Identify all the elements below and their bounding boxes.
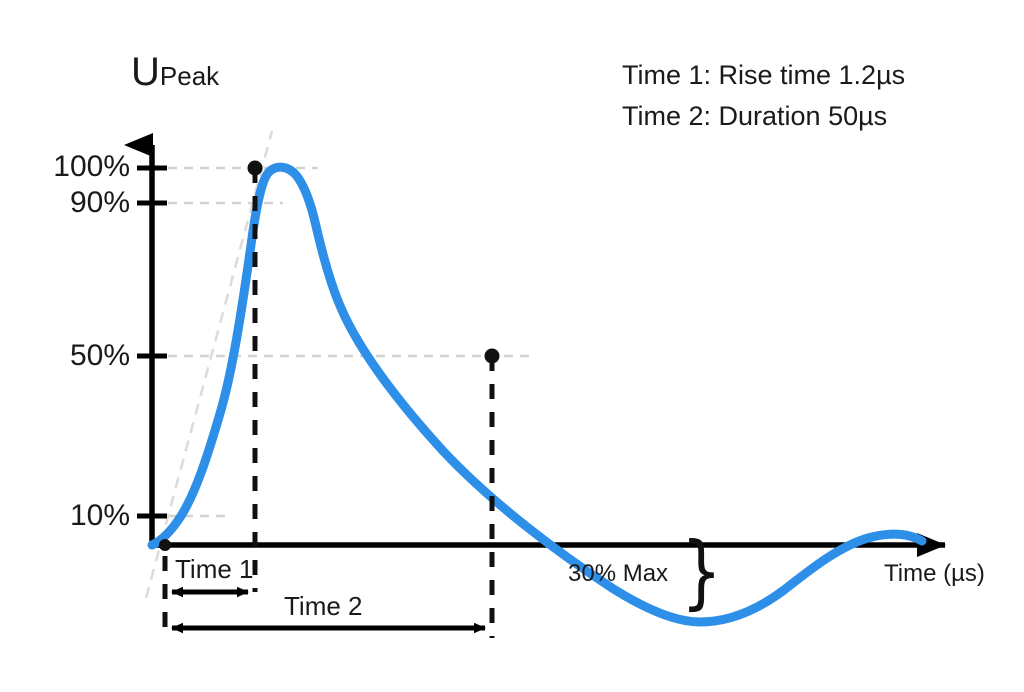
waveform-curve	[152, 167, 922, 622]
time-1-label: Time 1	[175, 556, 254, 582]
x-axis-title: Time (µs)	[884, 562, 985, 586]
y-axis-title-subscript: Peak	[160, 61, 219, 91]
gridlines	[152, 168, 533, 516]
ytick-label-10: 10%	[0, 501, 130, 531]
undershoot-note-label: 30% Max	[568, 562, 668, 586]
half-value-point-marker	[485, 349, 500, 364]
peak-point-marker	[248, 161, 263, 176]
ytick-label-90: 90%	[0, 188, 130, 218]
legend-line-1: Time 1: Rise time 1.2µs	[622, 62, 905, 89]
legend-line-2: Time 2: Duration 50µs	[622, 103, 887, 130]
ytick-label-50: 50%	[0, 341, 130, 371]
ytick-label-100: 100%	[0, 152, 130, 182]
y-axis-title-main: U	[131, 50, 160, 94]
surge-waveform-figure: UPeak 100% 90% 50% 10% Time (µs) Time 1:…	[0, 0, 1024, 692]
undershoot-brace: }	[681, 532, 722, 612]
y-axis-title: UPeak	[131, 52, 219, 92]
time-2-label: Time 2	[284, 593, 363, 619]
virtual-origin-marker	[159, 539, 171, 551]
